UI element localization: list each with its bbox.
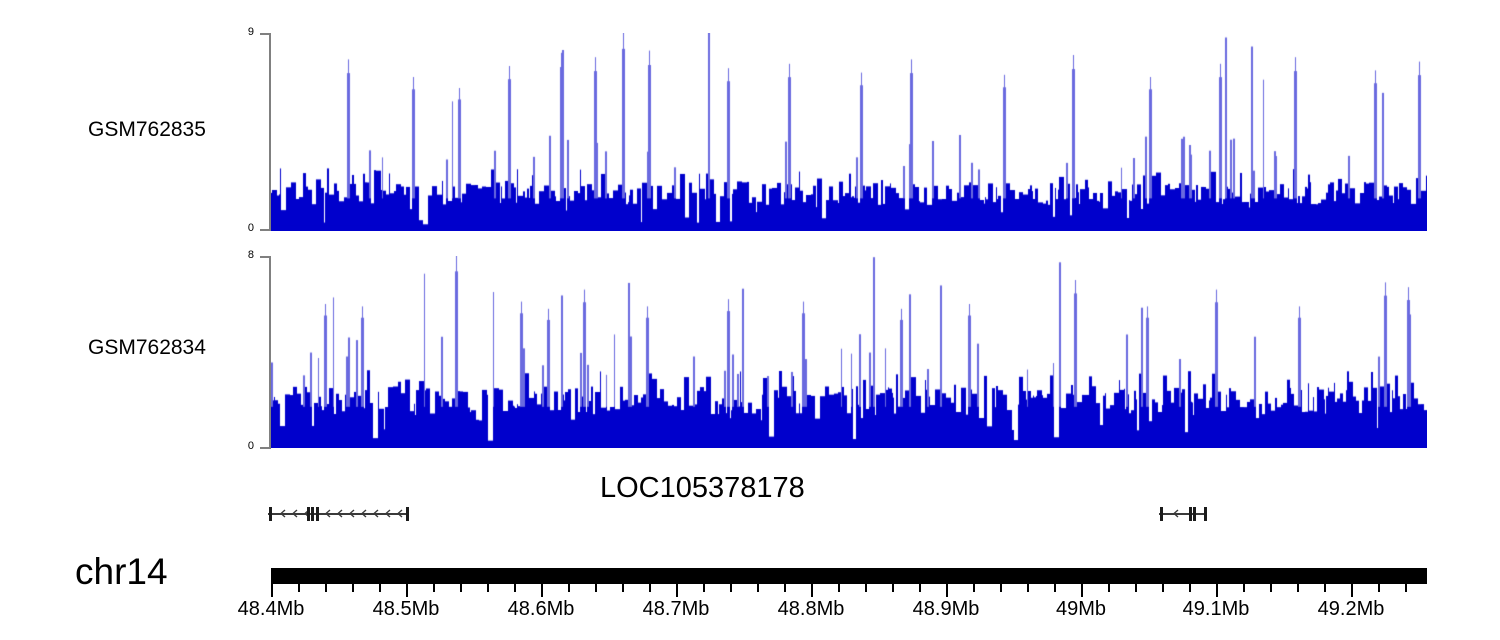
- strand-arrow-left-icon: [397, 509, 404, 518]
- axis-minor-tick: [1189, 584, 1191, 592]
- axis-minor-tick: [379, 584, 381, 592]
- axis-tick-label: 48.4Mb: [211, 598, 331, 621]
- coverage-plot-gsm762835[interactable]: [271, 33, 1427, 231]
- axis-minor-tick: [838, 584, 840, 592]
- axis-tick-label: 48.5Mb: [346, 598, 466, 621]
- axis-tick-label: 48.8Mb: [751, 598, 871, 621]
- chromosome-ideogram-bar[interactable]: [271, 568, 1427, 584]
- axis-minor-tick: [298, 584, 300, 592]
- gene-exon-block[interactable]: [269, 507, 272, 521]
- axis-minor-tick: [1054, 584, 1056, 592]
- axis-minor-tick: [757, 584, 759, 592]
- track2-y-axis-tick-max: [260, 256, 269, 258]
- track1-y-axis-tick-max: [260, 33, 269, 35]
- axis-major-tick: [676, 584, 678, 597]
- gene-label-loc105378178[interactable]: LOC105378178: [600, 472, 805, 505]
- axis-minor-tick: [595, 584, 597, 592]
- coverage-plot-gsm762834[interactable]: [271, 256, 1427, 448]
- axis-minor-tick: [1162, 584, 1164, 592]
- strand-arrow-left-icon: [1173, 509, 1180, 518]
- track-label-gsm762835: GSM762835: [88, 118, 206, 142]
- axis-minor-tick: [1297, 584, 1299, 592]
- axis-minor-tick: [1108, 584, 1110, 592]
- gene-exon-block[interactable]: [1189, 507, 1192, 521]
- gene-exon-block[interactable]: [307, 507, 310, 521]
- gene-exon-block[interactable]: [1160, 507, 1163, 521]
- strand-arrow-left-icon: [361, 509, 368, 518]
- axis-minor-tick: [487, 584, 489, 592]
- strand-arrow-left-icon: [280, 509, 287, 518]
- axis-minor-tick: [1000, 584, 1002, 592]
- axis-minor-tick: [1405, 584, 1407, 592]
- strand-arrow-left-icon: [349, 509, 356, 518]
- track1-axis-min-label: 0: [232, 222, 254, 234]
- axis-minor-tick: [1378, 584, 1380, 592]
- axis-major-tick: [406, 584, 408, 597]
- axis-minor-tick: [730, 584, 732, 592]
- axis-minor-tick: [568, 584, 570, 592]
- axis-major-tick: [271, 584, 273, 597]
- axis-minor-tick: [1027, 584, 1029, 592]
- axis-tick-label: 49.2Mb: [1291, 598, 1411, 621]
- axis-minor-tick: [460, 584, 462, 592]
- gene-exon-block[interactable]: [406, 507, 409, 521]
- axis-major-tick: [811, 584, 813, 597]
- track2-y-axis-tick-min: [260, 447, 269, 449]
- track1-y-axis-tick-min: [260, 229, 269, 231]
- axis-minor-tick: [784, 584, 786, 592]
- genome-browser-view: GSM762835 9 0 GSM762834 8 0 LOC105378178…: [0, 0, 1500, 640]
- gene-exon-block[interactable]: [311, 507, 314, 521]
- chromosome-label: chr14: [75, 551, 168, 593]
- axis-minor-tick: [703, 584, 705, 592]
- track2-axis-min-label: 0: [232, 440, 254, 452]
- gene-exon-block[interactable]: [1204, 507, 1207, 521]
- axis-minor-tick: [622, 584, 624, 592]
- axis-major-tick: [1081, 584, 1083, 597]
- axis-minor-tick: [514, 584, 516, 592]
- axis-minor-tick: [352, 584, 354, 592]
- axis-minor-tick: [1270, 584, 1272, 592]
- axis-minor-tick: [973, 584, 975, 592]
- axis-tick-label: 49Mb: [1021, 598, 1141, 621]
- gene-intron-line: [1159, 513, 1206, 515]
- axis-minor-tick: [433, 584, 435, 592]
- axis-minor-tick: [649, 584, 651, 592]
- strand-arrow-left-icon: [292, 509, 299, 518]
- axis-minor-tick: [892, 584, 894, 592]
- track-label-gsm762834: GSM762834: [88, 336, 206, 360]
- axis-minor-tick: [919, 584, 921, 592]
- strand-arrow-left-icon: [373, 509, 380, 518]
- axis-tick-label: 48.7Mb: [616, 598, 736, 621]
- gene-exon-block[interactable]: [316, 507, 319, 521]
- axis-tick-label: 48.9Mb: [886, 598, 1006, 621]
- gene-model-right[interactable]: [1159, 505, 1206, 523]
- axis-major-tick: [1216, 584, 1218, 597]
- strand-arrow-left-icon: [337, 509, 344, 518]
- track2-axis-max-label: 8: [232, 249, 254, 261]
- axis-major-tick: [1351, 584, 1353, 597]
- axis-major-tick: [541, 584, 543, 597]
- axis-major-tick: [946, 584, 948, 597]
- axis-minor-tick: [1324, 584, 1326, 592]
- strand-arrow-left-icon: [325, 509, 332, 518]
- axis-tick-label: 49.1Mb: [1156, 598, 1276, 621]
- axis-minor-tick: [865, 584, 867, 592]
- gene-exon-block[interactable]: [1193, 507, 1196, 521]
- gene-model-left[interactable]: [268, 505, 409, 523]
- track1-axis-max-label: 9: [232, 26, 254, 38]
- strand-arrow-left-icon: [385, 509, 392, 518]
- axis-minor-tick: [325, 584, 327, 592]
- axis-minor-tick: [1135, 584, 1137, 592]
- axis-minor-tick: [1243, 584, 1245, 592]
- axis-tick-label: 48.6Mb: [481, 598, 601, 621]
